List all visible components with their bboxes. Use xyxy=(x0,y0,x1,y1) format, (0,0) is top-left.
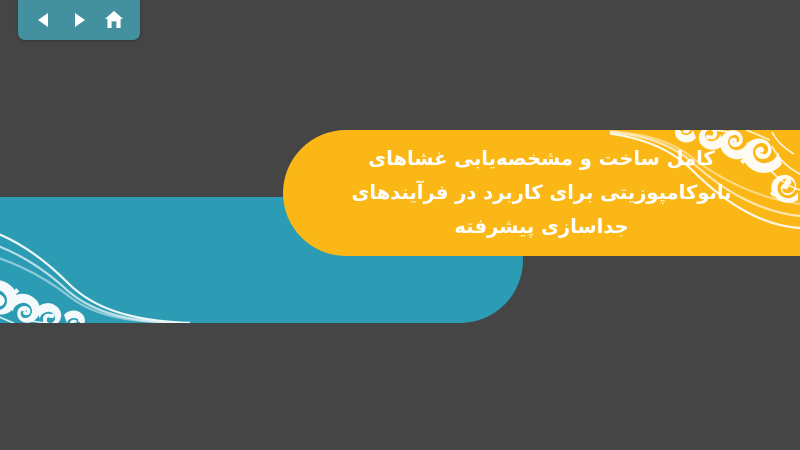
orange-band: کامل ساخت و مشخصه‌یابی غشاهای نانوکامپوز… xyxy=(283,130,800,256)
home-icon xyxy=(103,9,125,31)
forward-button[interactable] xyxy=(65,6,93,34)
title-line-3: جداسازی پیشرفته xyxy=(454,210,628,244)
forward-triangle-icon xyxy=(69,10,89,30)
back-triangle-icon xyxy=(34,10,54,30)
home-button[interactable] xyxy=(100,6,128,34)
arabesque-ornament-mirrored xyxy=(0,197,190,323)
title-line-2: نانوکامپوزیتی برای کاربرد در فرآیندهای xyxy=(352,176,732,210)
navigation-bar xyxy=(18,0,140,40)
slide-title: کامل ساخت و مشخصه‌یابی غشاهای نانوکامپوز… xyxy=(283,130,800,256)
title-line-1: کامل ساخت و مشخصه‌یابی غشاهای xyxy=(368,142,715,176)
back-button[interactable] xyxy=(30,6,58,34)
slide-canvas: کامل ساخت و مشخصه‌یابی غشاهای نانوکامپوز… xyxy=(0,0,800,450)
